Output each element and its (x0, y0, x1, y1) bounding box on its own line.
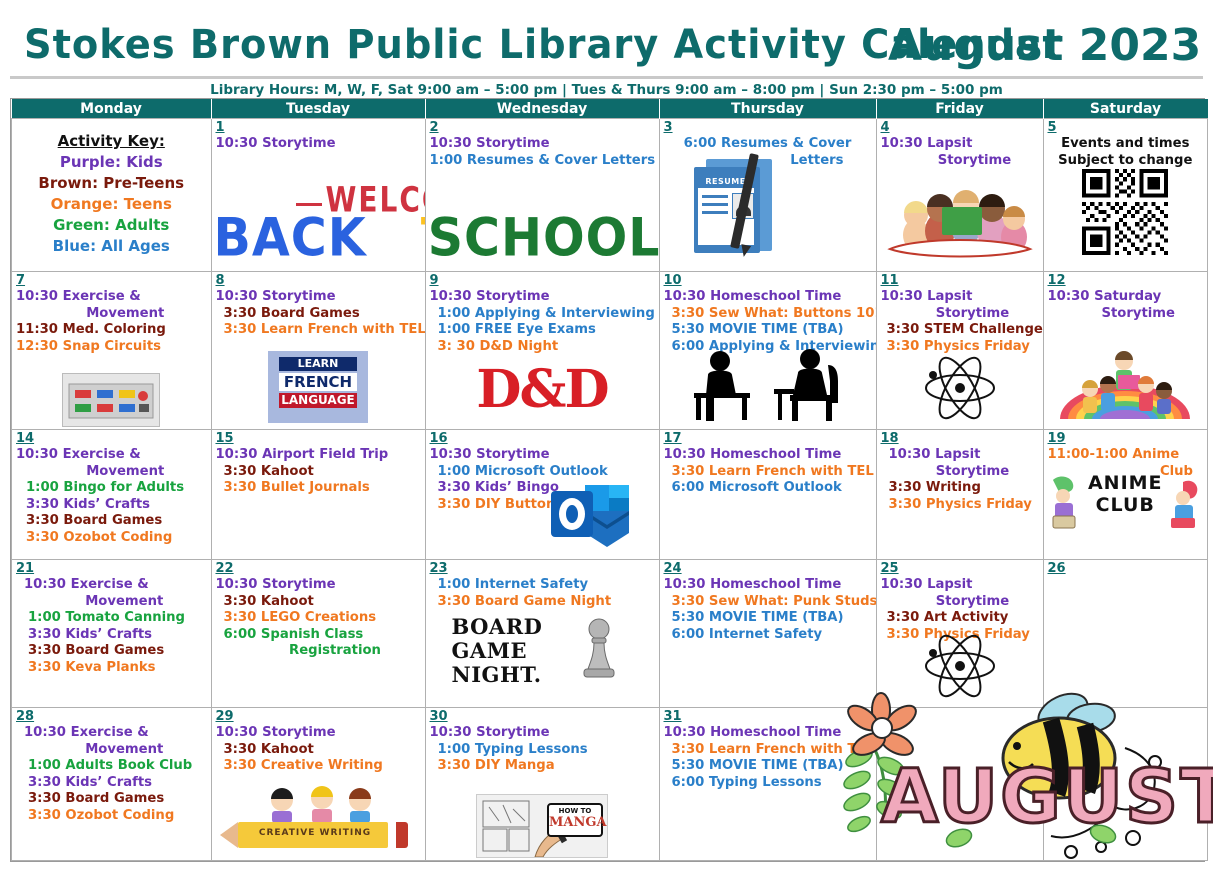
day-cell-8[interactable]: 8 10:30 Storytime 3:30 Board Games 3:30 … (211, 272, 425, 430)
day-number: 11 (881, 274, 1039, 288)
event-item: 10:30 Storytime (216, 289, 421, 306)
event-item: 10:30 Saturday (1048, 289, 1204, 306)
notice-line-2: Subject to change (1048, 153, 1204, 170)
day-number: 10 (664, 274, 872, 288)
event-item: 10:30 Storytime (216, 136, 421, 153)
legend-item-preteens: Brown: Pre-Teens (16, 173, 207, 194)
activity-key-title: Activity Key: (16, 131, 207, 152)
event-item: 10:30 Storytime (430, 447, 655, 464)
event-item: 3:30 Board Games (216, 306, 421, 323)
event-item: 1:00 Bingo for Adults (16, 480, 207, 497)
event-item: Registration (216, 643, 421, 660)
event-item: Movement (16, 464, 207, 481)
weekday-monday: Monday (12, 99, 212, 119)
day-number: 31 (664, 710, 872, 724)
event-item: 3:30 Board Games (16, 643, 207, 660)
day-number: 18 (881, 432, 1039, 446)
day-cell-30[interactable]: 30 10:30 Storytime 1:00 Typing Lessons 3… (425, 708, 659, 861)
day-cell-11[interactable]: 11 10:30 Lapsit Storytime 3:30 STEM Chal… (876, 272, 1043, 430)
weekday-tuesday: Tuesday (211, 99, 425, 119)
day-number: 22 (216, 562, 421, 576)
atom-icon (921, 631, 999, 701)
day-number: 9 (430, 274, 655, 288)
event-item: 10:30 Storytime (216, 725, 421, 742)
event-item: 11:00-1:00 Anime (1048, 447, 1204, 464)
day-cell-15[interactable]: 15 10:30 Airport Field Trip 3:30 Kahoot … (211, 430, 425, 560)
calendar-week-3: 14 10:30 Exercise & Movement 1:00 Bingo … (12, 430, 1208, 560)
day-number: 2 (430, 121, 655, 135)
day-number: 12 (1048, 274, 1204, 288)
day-number: 19 (1048, 432, 1204, 446)
event-item: 3:30 Board Games (16, 791, 207, 808)
snap-circuits-photo (62, 373, 160, 427)
event-item: 3:30 Learn French with TEL (664, 464, 872, 481)
event-item: Storytime (881, 153, 1039, 170)
day-number: 23 (430, 562, 655, 576)
event-item: 3:30 LEGO Creations (216, 610, 421, 627)
board-text: BOARD (452, 614, 543, 639)
event-item: 3:30 Kahoot (216, 742, 421, 759)
game-text: GAME (452, 638, 527, 663)
day-number: 17 (664, 432, 872, 446)
event-item: 1:00 Applying & Interviewing (430, 306, 655, 323)
day-number: 7 (16, 274, 207, 288)
day-number: 29 (216, 710, 421, 724)
event-item: Movement (16, 742, 207, 759)
calendar-page: Stokes Brown Public Library Activity Cal… (0, 0, 1213, 880)
french-line-3: LANGUAGE (279, 393, 357, 408)
event-item: Storytime (881, 464, 1039, 481)
dnd-text: D&D (447, 361, 637, 419)
day-number: 5 (1048, 121, 1204, 135)
day-number: 14 (16, 432, 207, 446)
day-number: 15 (216, 432, 421, 446)
event-item: 12:30 Snap Circuits (16, 339, 207, 356)
day-number: 21 (16, 562, 207, 576)
kids-reading-book-icon (880, 177, 1040, 269)
month-title: August 2023 (888, 20, 1201, 71)
event-item: 10:30 Exercise & (16, 447, 207, 464)
learn-french-logo: LEARN FRENCH LANGUAGE (268, 351, 368, 423)
event-item: 10:30 Lapsit (881, 577, 1039, 594)
event-item: 6:00 Resumes & Cover (664, 136, 872, 153)
day-number: 1 (216, 121, 421, 135)
event-item: 10:30 Airport Field Trip (216, 447, 421, 464)
event-item: 10:30 Lapsit (881, 447, 1039, 464)
event-item: 10:30 Homeschool Time (664, 447, 872, 464)
event-item: 1:00 Typing Lessons (430, 742, 655, 759)
creative-writing-art: CREATIVE WRITING (238, 792, 398, 858)
day-cell-17[interactable]: 17 10:30 Homeschool Time 3:30 Learn Fren… (659, 430, 876, 560)
rainbow-storytime-icon (1050, 349, 1200, 427)
weekday-thursday: Thursday (659, 99, 876, 119)
event-item: 3:30 Learn French with TEL (664, 742, 872, 759)
weekday-wednesday: Wednesday (425, 99, 659, 119)
event-item: 6:00 Microsoft Outlook (664, 480, 872, 497)
event-item: 3:30 Sew What: Buttons 101 (664, 306, 872, 323)
board-game-night-art: BOARD GAME NIGHT. (452, 615, 652, 701)
day-cell-10[interactable]: 10 10:30 Homeschool Time 3:30 Sew What: … (659, 272, 876, 430)
event-item: 5:30 MOVIE TIME (TBA) (664, 322, 872, 339)
qr-code-icon[interactable] (1082, 169, 1168, 255)
calendar-header: Stokes Brown Public Library Activity Cal… (0, 22, 1213, 74)
event-item: 10:30 Lapsit (881, 289, 1039, 306)
night-text: NIGHT. (452, 662, 542, 687)
weekday-header-row: Monday Tuesday Wednesday Thursday Friday… (12, 99, 1208, 119)
event-item: 6:00 Typing Lessons (664, 775, 872, 792)
french-line-1: LEARN (279, 357, 357, 371)
school-word-art: SCHOOL (425, 179, 659, 267)
dnd-logo: D&D (447, 361, 637, 423)
event-item: 3:30 Bullet Journals (216, 480, 421, 497)
day-cell-18[interactable]: 18 10:30 Lapsit Storytime 3:30 Writing 3… (876, 430, 1043, 560)
event-item: 10:30 Lapsit (881, 136, 1039, 153)
event-item: 6:00 Spanish Class (216, 627, 421, 644)
school-text: SCHOOL (428, 207, 659, 269)
event-item: 10:30 Homeschool Time (664, 725, 872, 742)
event-item: 10:30 Homeschool Time (664, 577, 872, 594)
interview-silhouette-icon (678, 345, 858, 425)
welcome-dash-left (296, 203, 322, 206)
event-item: 10:30 Homeschool Time (664, 289, 872, 306)
french-line-2: FRENCH (279, 373, 357, 391)
event-item: 1:00 Resumes & Cover Letters (430, 153, 655, 170)
day-cell-22[interactable]: 22 10:30 Storytime 3:30 Kahoot 3:30 LEGO… (211, 560, 425, 708)
legend-item-teens: Orange: Teens (16, 194, 207, 215)
event-item: 3:30 Kids’ Crafts (16, 627, 207, 644)
day-cell-2[interactable]: 2 10:30 Storytime 1:00 Resumes & Cover L… (425, 119, 659, 272)
manga-line-2: MANGA (549, 816, 601, 830)
day-cell-31[interactable]: 31 10:30 Homeschool Time 3:30 Learn Fren… (659, 708, 876, 861)
event-item: Storytime (881, 594, 1039, 611)
event-item: Movement (16, 306, 207, 323)
event-item: 6:00 Internet Safety (664, 627, 872, 644)
event-item: 10:30 Exercise & (16, 577, 207, 594)
calendar-grid: Monday Tuesday Wednesday Thursday Friday… (10, 98, 1205, 862)
chess-pawn-icon (580, 617, 618, 679)
calendar-week-1: Activity Key: Purple: Kids Brown: Pre-Te… (12, 119, 1208, 272)
event-item: 3:30 Ozobot Coding (16, 808, 207, 825)
day-cell-23[interactable]: 23 1:00 Internet Safety 3:30 Board Game … (425, 560, 659, 708)
event-item: 3:30 Physics Friday (881, 497, 1039, 514)
day-cell-19[interactable]: 19 11:00-1:00 Anime Club ANIME CLUB (1043, 430, 1208, 560)
manga-speech-bubble: HOW TO MANGA (547, 803, 603, 837)
event-item: 3:30 STEM Challenge (881, 322, 1039, 339)
event-item: 10:30 Storytime (430, 289, 655, 306)
event-item: 5:30 MOVIE TIME (TBA) (664, 610, 872, 627)
atom-icon (921, 353, 999, 423)
event-item: 10:30 Storytime (430, 136, 655, 153)
event-item: Storytime (1048, 306, 1204, 323)
day-cell-21[interactable]: 21 10:30 Exercise & Movement 1:00 Tomato… (12, 560, 212, 708)
event-item: 1:00 Adults Book Club (16, 758, 207, 775)
event-item: 10:30 Exercise & (16, 289, 207, 306)
microsoft-outlook-icon (549, 477, 631, 549)
creative-writing-label: CREATIVE WRITING (256, 828, 374, 838)
activity-key: Activity Key: Purple: Kids Brown: Pre-Te… (16, 131, 207, 257)
day-cell-5[interactable]: 5 Events and times Subject to change (1043, 119, 1208, 272)
day-number: 30 (430, 710, 655, 724)
event-item: 3:30 Ozobot Coding (16, 530, 207, 547)
event-item: 10:30 Storytime (430, 725, 655, 742)
event-item: 1:00 FREE Eye Exams (430, 322, 655, 339)
event-item: 3: 30 D&D Night (430, 339, 655, 356)
day-cell-12[interactable]: 12 10:30 Saturday Storytime (1043, 272, 1208, 430)
event-item: 3:30 Board Game Night (430, 594, 655, 611)
day-cell-14[interactable]: 14 10:30 Exercise & Movement 1:00 Bingo … (12, 430, 212, 560)
calendar-week-5: 28 10:30 Exercise & Movement 1:00 Adults… (12, 708, 1208, 861)
calendar-week-2: 7 10:30 Exercise & Movement 11:30 Med. C… (12, 272, 1208, 430)
legend-item-allages: Blue: All Ages (16, 236, 207, 257)
event-item: 5:30 MOVIE TIME (TBA) (664, 758, 872, 775)
day-number: 25 (881, 562, 1039, 576)
event-item: 3:30 Art Activity (881, 610, 1039, 627)
notice-line-1: Events and times (1048, 136, 1204, 153)
event-item: 3:30 Creative Writing (216, 758, 421, 775)
anime-club-logo: ANIME CLUB (1045, 472, 1205, 530)
event-item: 10:30 Exercise & (16, 725, 207, 742)
calendar-week-4: 21 10:30 Exercise & Movement 1:00 Tomato… (12, 560, 1208, 708)
event-item: Storytime (881, 306, 1039, 323)
event-item: 11:30 Med. Coloring (16, 322, 207, 339)
day-cell-24[interactable]: 24 10:30 Homeschool Time 3:30 Sew What: … (659, 560, 876, 708)
day-cell-28[interactable]: 28 10:30 Exercise & Movement 1:00 Adults… (12, 708, 212, 861)
event-item: Movement (16, 594, 207, 611)
event-item: 3:30 Writing (881, 480, 1039, 497)
day-cell-4[interactable]: 4 10:30 Lapsit Storytime (876, 119, 1043, 272)
resume-icon: RESUME (688, 153, 780, 255)
day-cell-1[interactable]: 1 10:30 Storytime WELCOME BACK TO (211, 119, 425, 272)
event-item: 3:30 Kids’ Crafts (16, 775, 207, 792)
legend-item-kids: Purple: Kids (16, 152, 207, 173)
welcome-back-to-school-art: WELCOME BACK TO (211, 179, 425, 267)
event-item: 1:00 Tomato Canning (16, 610, 207, 627)
day-cell-3[interactable]: 3 6:00 Resumes & Cover Letters RESUME (659, 119, 876, 272)
back-text: BACK (214, 207, 367, 269)
event-item: 3:30 Kahoot (216, 464, 421, 481)
day-number: 8 (216, 274, 421, 288)
day-cell-26[interactable]: 26 (1043, 560, 1208, 708)
header-divider (10, 76, 1203, 79)
day-cell-7[interactable]: 7 10:30 Exercise & Movement 11:30 Med. C… (12, 272, 212, 430)
day-number: 24 (664, 562, 872, 576)
day-cell-16[interactable]: 16 10:30 Storytime 1:00 Microsoft Outloo… (425, 430, 659, 560)
event-item: 3:30 DIY Manga (430, 758, 655, 775)
how-to-manga-photo: HOW TO MANGA (476, 794, 608, 858)
event-item: 3:30 Kahoot (216, 594, 421, 611)
event-item: 3:30 Keva Planks (16, 660, 207, 677)
weekday-saturday: Saturday (1043, 99, 1208, 119)
event-item: 1:00 Internet Safety (430, 577, 655, 594)
legend-item-adults: Green: Adults (16, 215, 207, 236)
event-item: 3:30 Learn French with TEL (216, 322, 421, 339)
day-number: 28 (16, 710, 207, 724)
day-cell-legend: Activity Key: Purple: Kids Brown: Pre-Te… (12, 119, 212, 272)
day-number: 4 (881, 121, 1039, 135)
weekday-friday: Friday (876, 99, 1043, 119)
day-cell-empty-saturday (1043, 708, 1208, 861)
day-cell-29[interactable]: 29 10:30 Storytime 3:30 Kahoot 3:30 Crea… (211, 708, 425, 861)
back-to-school-text: BACK TO (214, 207, 426, 269)
event-item: 10:30 Storytime (216, 577, 421, 594)
day-cell-empty-friday (876, 708, 1043, 861)
library-hours: Library Hours: M, W, F, Sat 9:00 am – 5:… (0, 82, 1213, 98)
day-number: 26 (1048, 562, 1204, 576)
day-cell-25[interactable]: 25 10:30 Lapsit Storytime 3:30 Art Activ… (876, 560, 1043, 708)
event-item: 3:30 Board Games (16, 513, 207, 530)
day-number: 3 (664, 121, 872, 135)
event-item: 3:30 Kids’ Crafts (16, 497, 207, 514)
event-item: 3:30 Sew What: Punk Studs (664, 594, 872, 611)
day-cell-9[interactable]: 9 10:30 Storytime 1:00 Applying & Interv… (425, 272, 659, 430)
day-number: 16 (430, 432, 655, 446)
